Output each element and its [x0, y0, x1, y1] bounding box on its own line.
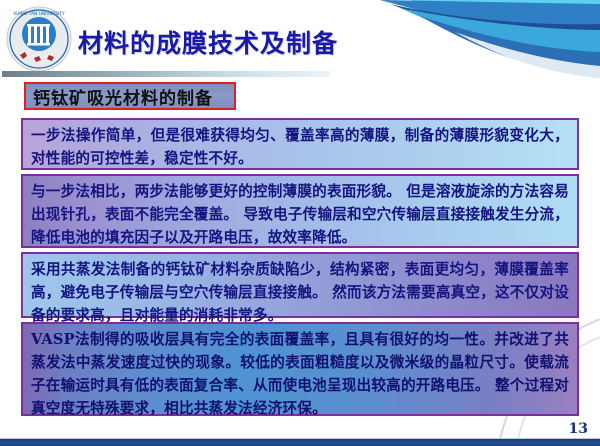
swoosh-white-cut [455, 32, 600, 78]
swoosh-navy [390, 4, 600, 58]
header-divider [2, 71, 330, 77]
swoosh-blue-upper [380, 0, 600, 38]
section-subtitle-box: 钙钛矿吸光材料的制备 [24, 82, 236, 110]
university-logo: XIANG TAN UNIVERSITY [6, 6, 72, 72]
content-box-two-step: 与一步法相比，两步法能够更好的控制薄膜的表面形貌。 但是溶液旋涂的方法容易出现针… [21, 174, 579, 248]
university-logo-icon: XIANG TAN UNIVERSITY [6, 6, 72, 72]
content-box-vasp: VASP法制得的吸收层具有完全的表面覆盖率，且具有很好的均一性。并改进了共蒸发法… [21, 322, 579, 416]
page-number: 13 [569, 421, 588, 437]
swoosh-svg [340, 0, 600, 78]
header-swoosh-decoration [340, 0, 600, 78]
swoosh-lightblue-lower [400, 8, 600, 70]
section-subtitle-label: 钙钛矿吸光材料的制备 [26, 84, 213, 109]
swoosh-blue-bottom [420, 16, 600, 78]
content-box-coevaporation: 采用共蒸发法制备的钙钛矿材料杂质缺陷少，结构紧密，表面更均匀，薄膜覆盖率高，避免… [21, 252, 579, 318]
footer-bar [0, 439, 600, 446]
swoosh-cyan-top [410, 0, 600, 24]
logo-blue-disc [22, 17, 56, 51]
page-title: 材料的成膜技术及制备 [78, 24, 338, 60]
logo-ring-text: XIANG TAN UNIVERSITY [13, 11, 65, 17]
content-box-one-step: 一步法操作简单，但是很难获得均匀、覆盖率高的薄膜，制备的薄膜形貌变化大，对性能的… [21, 118, 579, 170]
slide-canvas: XIANG TAN UNIVERSITY 材料的成膜技术及制备 钙钛矿吸光材料的… [0, 0, 600, 446]
